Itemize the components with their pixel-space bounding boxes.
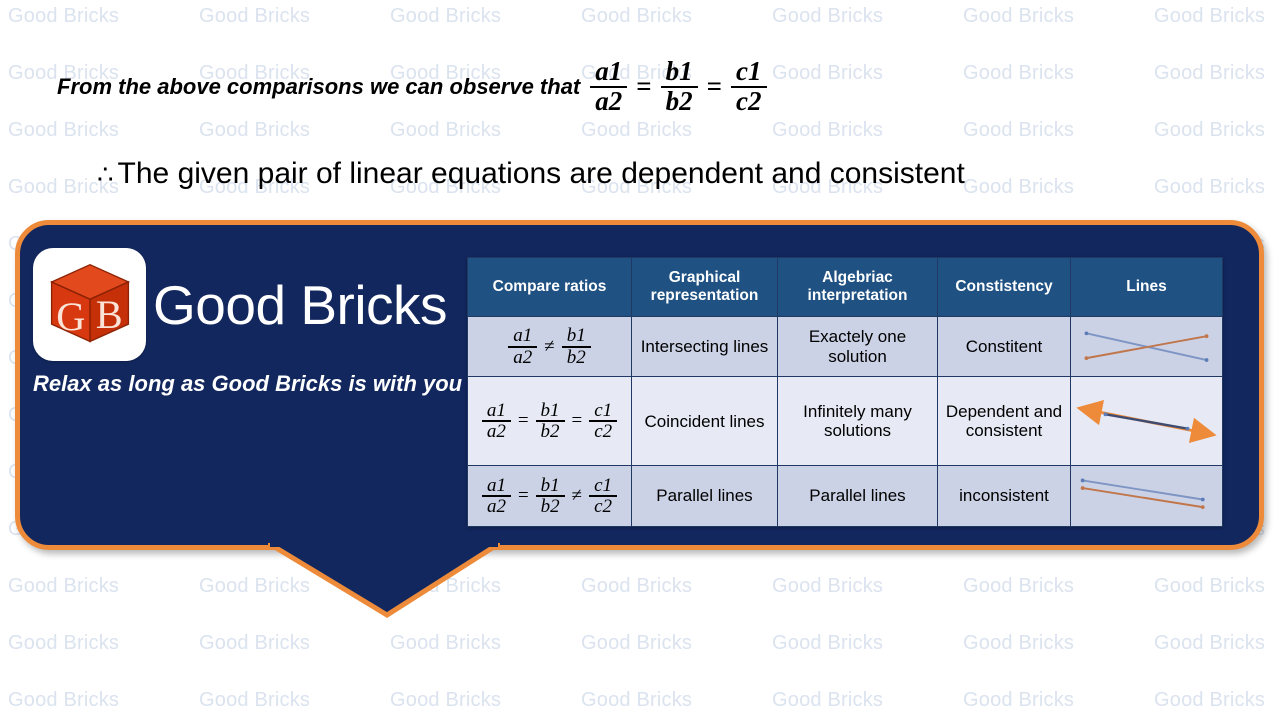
- therefore-symbol: ∴: [97, 159, 114, 189]
- watermark-text: Good Bricks: [963, 176, 1074, 199]
- header-compare-ratios: Compare ratios: [468, 258, 632, 317]
- brand-name: Good Bricks: [153, 273, 447, 337]
- header-graphical-representation: Graphical representation: [632, 258, 778, 317]
- cube-icon: G B: [42, 257, 138, 353]
- watermark-text: Good Bricks: [963, 575, 1074, 598]
- fraction: a1a2: [482, 401, 511, 442]
- cell-ratio-3: a1a2=b1b2≠c1c2: [468, 466, 632, 526]
- fraction-denominator: a2: [508, 346, 537, 367]
- table-row: a1a2≠b1b2 Intersecting lines Exactely on…: [468, 317, 1223, 377]
- watermark-text: Good Bricks: [199, 632, 310, 655]
- math-operator: =: [511, 410, 536, 432]
- watermark-text: Good Bricks: [772, 632, 883, 655]
- watermark-text: Good Bricks: [772, 62, 883, 85]
- cell-algebraic-3: Parallel lines: [778, 466, 938, 526]
- header-lines: Lines: [1071, 258, 1223, 317]
- fraction: a1a2: [482, 476, 511, 517]
- watermark-text: Good Bricks: [199, 689, 310, 712]
- parallel-lines-diagram: [1071, 466, 1223, 526]
- math-operator: ≠: [565, 485, 589, 507]
- watermark-text: Good Bricks: [772, 689, 883, 712]
- fraction-numerator: c1: [589, 401, 617, 420]
- logo-letter-b: B: [95, 292, 122, 337]
- fraction: c1c2: [589, 401, 617, 442]
- fraction-denominator: b2: [536, 420, 565, 441]
- watermark-text: Good Bricks: [963, 119, 1074, 142]
- table-header-row: Compare ratios Graphical representation …: [468, 258, 1223, 317]
- watermark-text: Good Bricks: [8, 119, 119, 142]
- conclusion-text: The given pair of linear equations are d…: [118, 157, 965, 190]
- watermark-text: Good Bricks: [8, 5, 119, 28]
- fraction-numerator: b1: [562, 326, 591, 345]
- watermark-text: Good Bricks: [1154, 176, 1265, 199]
- fraction-numerator: b1: [536, 476, 565, 495]
- math-operator: =: [627, 71, 660, 102]
- watermark-text: Good Bricks: [8, 575, 119, 598]
- brand-block: G B Good Bricks Relax as long as Good Br…: [33, 248, 473, 397]
- watermark-text: Good Bricks: [390, 689, 501, 712]
- header-algebraic-interpretation: Algebriac interpretation: [778, 258, 938, 317]
- fraction-denominator: c2: [589, 495, 617, 516]
- watermark-text: Good Bricks: [1154, 5, 1265, 28]
- cell-algebraic-1: Exactely one solution: [778, 317, 938, 377]
- watermark-text: Good Bricks: [1154, 62, 1265, 85]
- fraction-numerator: a1: [508, 326, 537, 345]
- fraction-denominator: a2: [482, 495, 511, 516]
- cell-graphical-2: Coincident lines: [632, 377, 778, 466]
- fraction: b1b2: [661, 58, 698, 115]
- fraction-denominator: b2: [661, 86, 698, 116]
- fraction: b1b2: [536, 401, 565, 442]
- header-consistency: Constistency: [938, 258, 1071, 317]
- fraction: a1a2: [508, 326, 537, 367]
- cell-consistency-1: Constitent: [938, 317, 1071, 377]
- watermark-text: Good Bricks: [963, 62, 1074, 85]
- brand-tagline: Relax as long as Good Bricks is with you: [33, 371, 473, 397]
- fraction-numerator: b1: [661, 58, 698, 86]
- conclusion-line: ∴The given pair of linear equations are …: [97, 157, 965, 191]
- watermark-text: Good Bricks: [772, 119, 883, 142]
- fraction: c1c2: [589, 476, 617, 517]
- cell-algebraic-2: Infinitely many solutions: [778, 377, 938, 466]
- table-row: a1a2=b1b2=c1c2 Coincident lines Infinite…: [468, 377, 1223, 466]
- watermark-text: Good Bricks: [1154, 575, 1265, 598]
- comparison-table: Compare ratios Graphical representation …: [467, 257, 1223, 527]
- cell-ratio-2: a1a2=b1b2=c1c2: [468, 377, 632, 466]
- watermark-text: Good Bricks: [390, 5, 501, 28]
- fraction-numerator: a1: [590, 58, 627, 86]
- fraction-denominator: c2: [731, 86, 766, 116]
- coincident-lines-diagram: [1071, 377, 1223, 466]
- cell-graphical-1: Intersecting lines: [632, 317, 778, 377]
- fraction: a1a2: [590, 58, 627, 115]
- watermark-text: Good Bricks: [199, 5, 310, 28]
- fraction: c1c2: [731, 58, 766, 115]
- watermark-text: Good Bricks: [581, 575, 692, 598]
- fraction-denominator: b2: [562, 346, 591, 367]
- callout-tail: [268, 543, 500, 621]
- watermark-text: Good Bricks: [963, 632, 1074, 655]
- cell-consistency-2: Dependent and consistent: [938, 377, 1071, 466]
- fraction-denominator: a2: [482, 420, 511, 441]
- watermark-text: Good Bricks: [581, 632, 692, 655]
- cell-ratio-1: a1a2≠b1b2: [468, 317, 632, 377]
- fraction-denominator: b2: [536, 495, 565, 516]
- observation-line: From the above comparisons we can observ…: [57, 58, 767, 115]
- watermark-text: Good Bricks: [1154, 632, 1265, 655]
- fraction: b1b2: [562, 326, 591, 367]
- cell-graphical-3: Parallel lines: [632, 466, 778, 526]
- fraction-numerator: a1: [482, 476, 511, 495]
- watermark-text: Good Bricks: [8, 632, 119, 655]
- observation-text: From the above comparisons we can observ…: [57, 74, 580, 100]
- table-row: a1a2=b1b2≠c1c2 Parallel lines Parallel l…: [468, 466, 1223, 526]
- watermark-text: Good Bricks: [963, 689, 1074, 712]
- fraction-denominator: a2: [590, 86, 627, 116]
- math-operator: =: [698, 71, 731, 102]
- fraction: b1b2: [536, 476, 565, 517]
- watermark-text: Good Bricks: [772, 5, 883, 28]
- fraction-denominator: c2: [589, 420, 617, 441]
- watermark-text: Good Bricks: [1154, 689, 1265, 712]
- observation-formula: a1a2=b1b2=c1c2: [590, 58, 766, 115]
- math-operator: =: [511, 485, 536, 507]
- watermark-text: Good Bricks: [390, 632, 501, 655]
- cell-consistency-3: inconsistent: [938, 466, 1071, 526]
- fraction-numerator: c1: [589, 476, 617, 495]
- fraction-numerator: a1: [482, 401, 511, 420]
- watermark-text: Good Bricks: [581, 689, 692, 712]
- watermark-text: Good Bricks: [581, 5, 692, 28]
- watermark-text: Good Bricks: [581, 119, 692, 142]
- watermark-text: Good Bricks: [390, 119, 501, 142]
- fraction-numerator: c1: [731, 58, 766, 86]
- watermark-text: Good Bricks: [1154, 119, 1265, 142]
- fraction-numerator: b1: [536, 401, 565, 420]
- watermark-text: Good Bricks: [772, 575, 883, 598]
- math-operator: =: [565, 410, 590, 432]
- watermark-text: Good Bricks: [963, 5, 1074, 28]
- good-bricks-cube-logo: G B: [33, 248, 146, 361]
- watermark-text: Good Bricks: [199, 119, 310, 142]
- watermark-text: Good Bricks: [8, 689, 119, 712]
- logo-letter-g: G: [56, 293, 85, 338]
- math-operator: ≠: [537, 336, 561, 358]
- intersecting-lines-diagram: [1071, 317, 1223, 377]
